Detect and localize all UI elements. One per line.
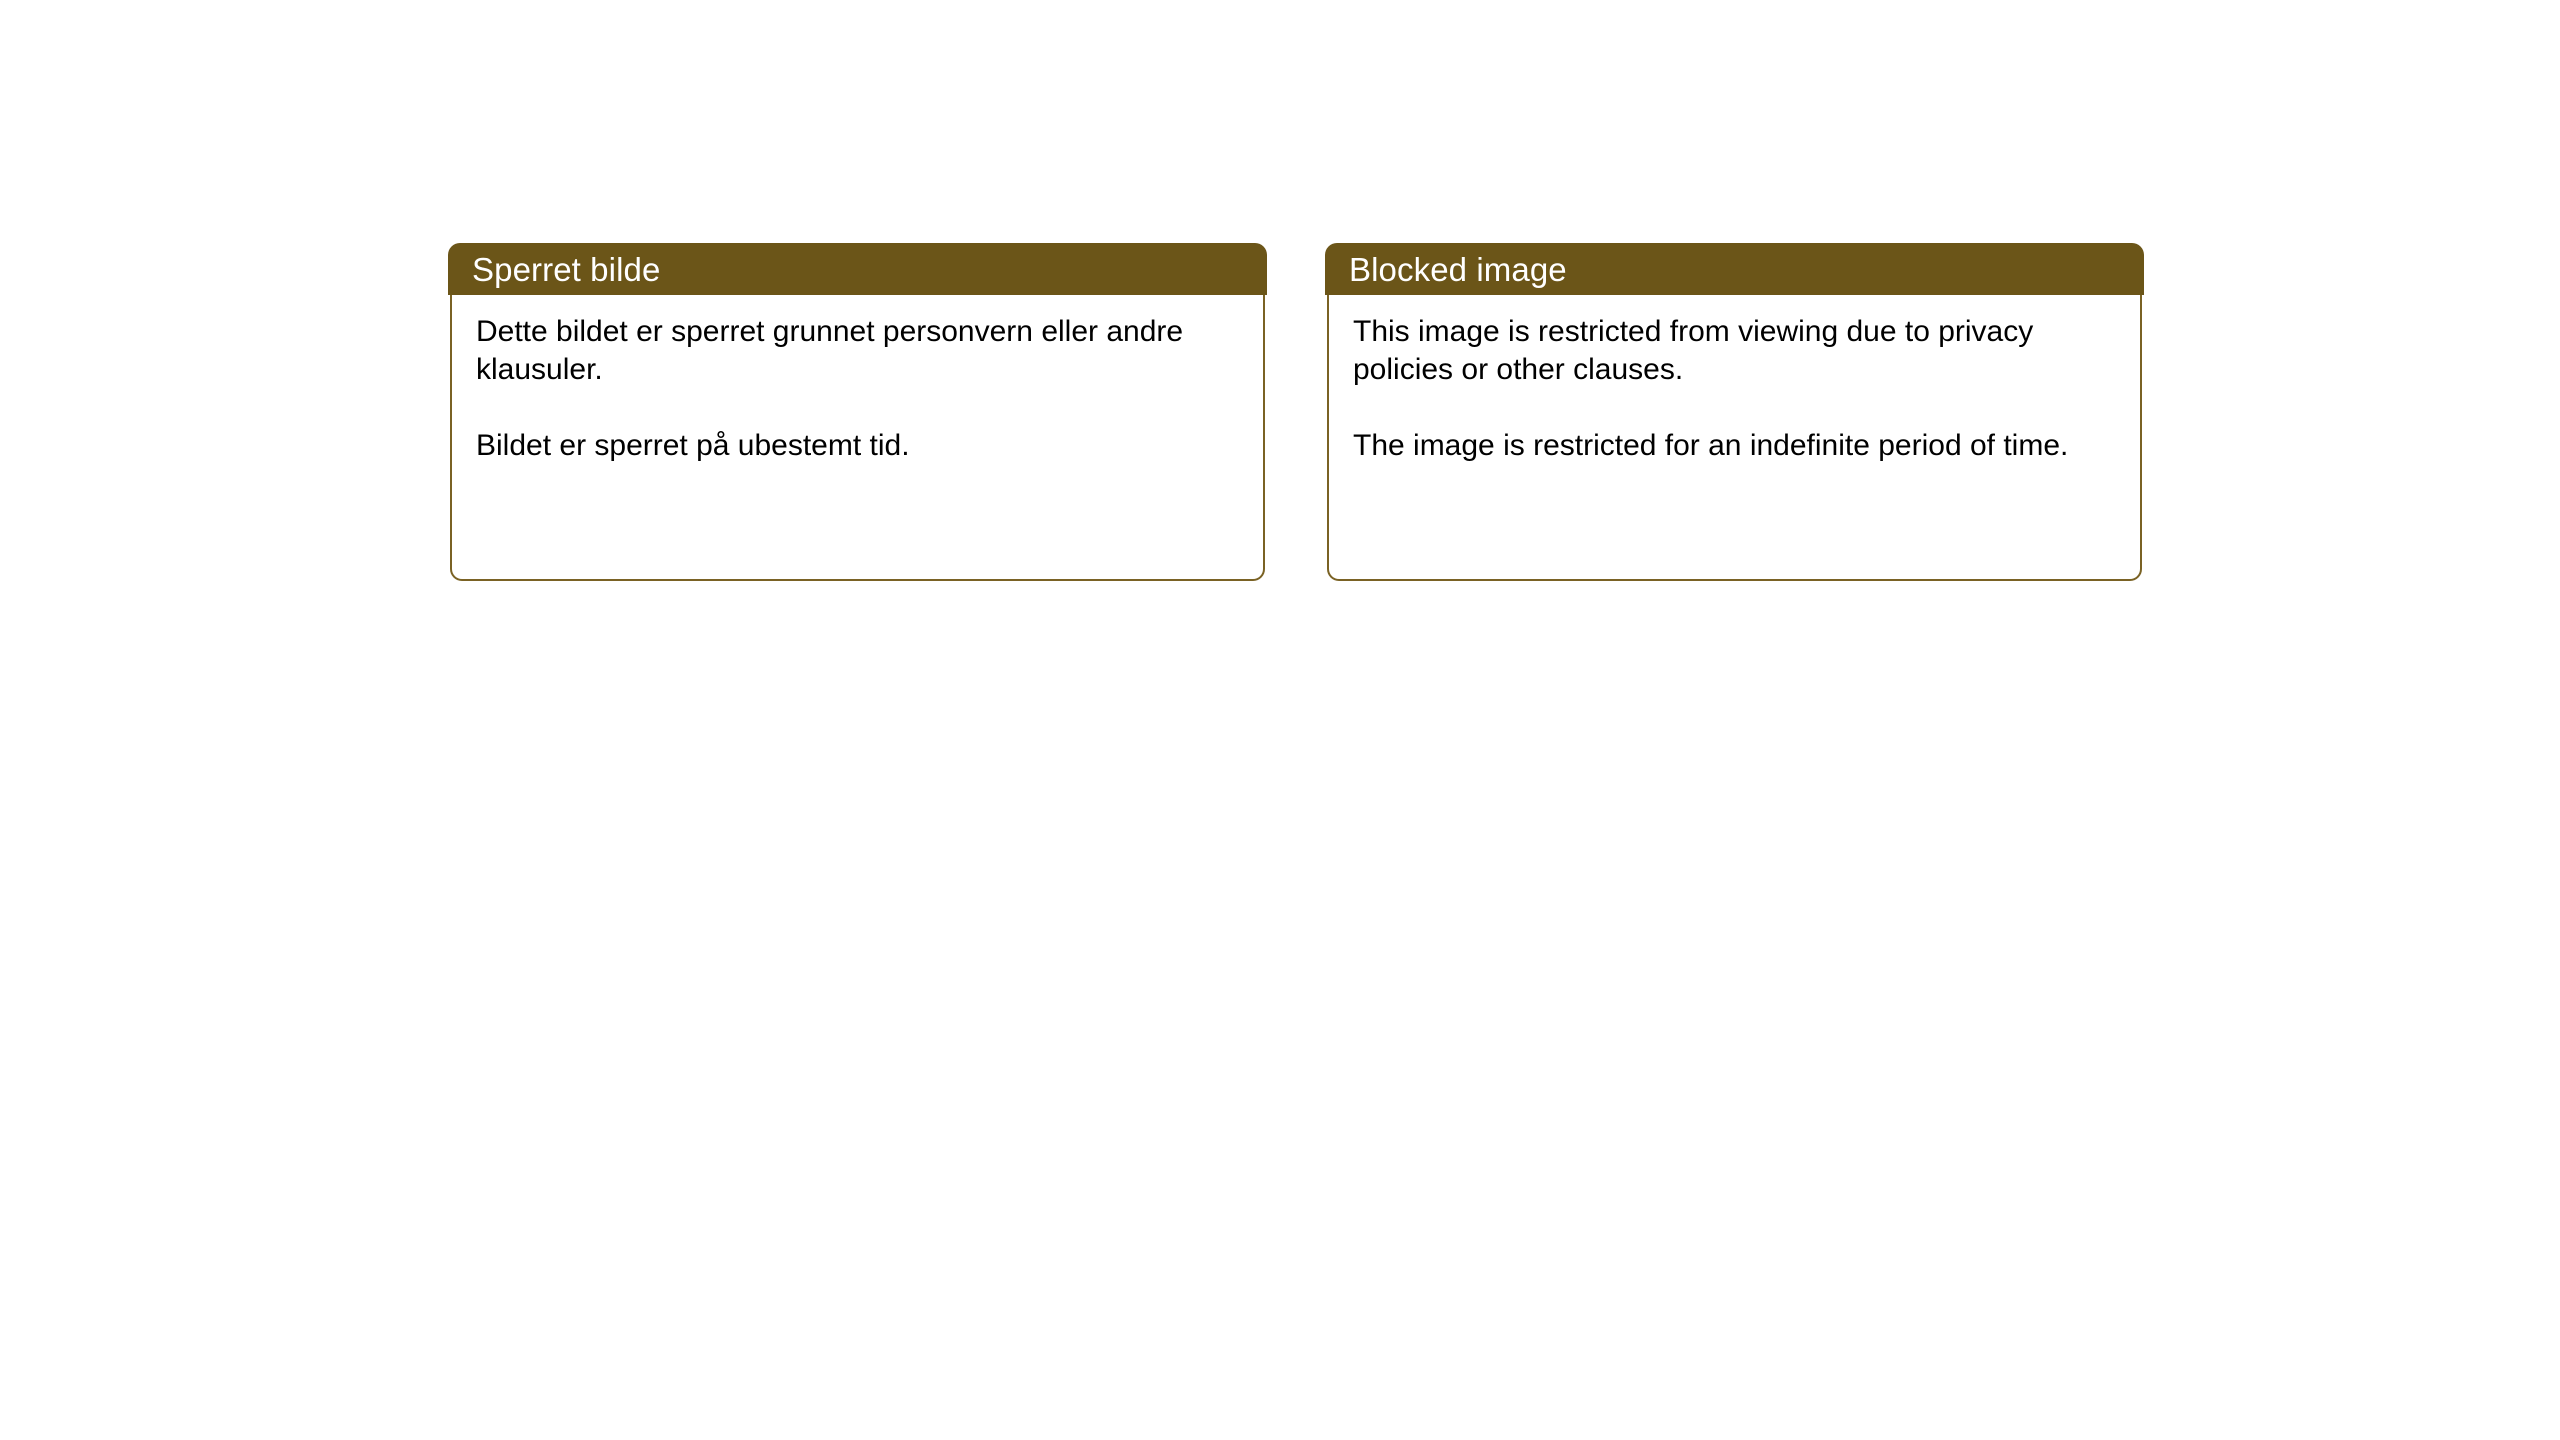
- blocked-image-card-norwegian: Sperret bilde Dette bildet er sperret gr…: [450, 243, 1265, 581]
- blocked-image-card-english: Blocked image This image is restricted f…: [1327, 243, 2142, 581]
- paragraph-spacer: [476, 390, 1239, 427]
- card-body-norwegian: Dette bildet er sperret grunnet personve…: [450, 295, 1265, 581]
- card-title-english: Blocked image: [1349, 253, 1567, 286]
- blocked-image-notice-area: Sperret bilde Dette bildet er sperret gr…: [450, 243, 2142, 581]
- paragraph-spacer: [1353, 390, 2116, 427]
- card-body-english: This image is restricted from viewing du…: [1327, 295, 2142, 581]
- card-paragraph-reason-english: This image is restricted from viewing du…: [1353, 313, 2116, 390]
- card-title-norwegian: Sperret bilde: [472, 253, 660, 286]
- card-header-english: Blocked image: [1325, 243, 2144, 295]
- card-header-norwegian: Sperret bilde: [448, 243, 1267, 295]
- card-paragraph-duration-norwegian: Bildet er sperret på ubestemt tid.: [476, 427, 1239, 465]
- card-paragraph-duration-english: The image is restricted for an indefinit…: [1353, 427, 2116, 465]
- card-paragraph-reason-norwegian: Dette bildet er sperret grunnet personve…: [476, 313, 1239, 390]
